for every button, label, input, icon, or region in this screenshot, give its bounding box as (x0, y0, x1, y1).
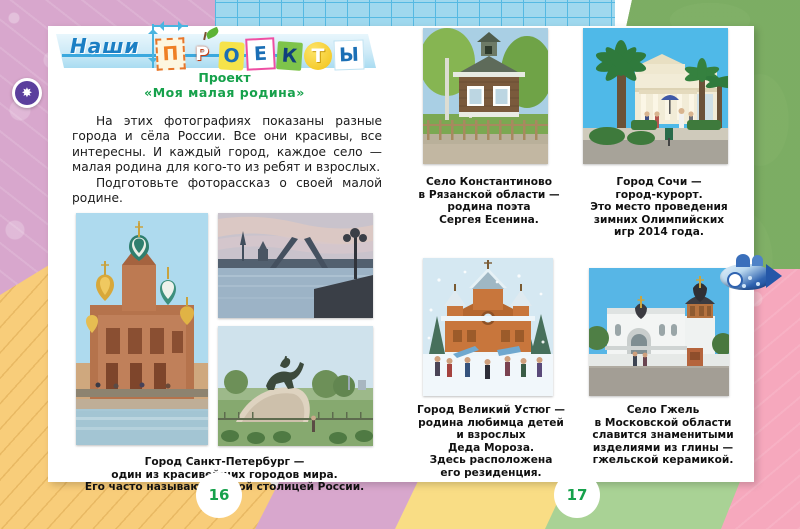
intro-paragraph-2: Подготовьте фоторассказ о своей малой ро… (72, 176, 382, 207)
caption-line: в Московской области (577, 417, 749, 430)
star-flower-icon: ✸ (15, 81, 39, 105)
caption-line: Город Великий Устюг — (407, 404, 575, 417)
photo-veliky-ustyug-residence (423, 258, 553, 396)
caption-line: славится знаменитыми (577, 429, 749, 442)
caption-line: гжельской керамикой. (577, 454, 749, 467)
fish-eye-icon (727, 272, 743, 288)
caption-line: и взрослых (407, 429, 575, 442)
caption-line: Деда Мороза. (407, 442, 575, 455)
star-badge: ✸ (12, 78, 42, 108)
caption-sochi: Город Сочи — город-курорт. Это место про… (573, 176, 745, 239)
caption-veliky-ustyug: Город Великий Устюг — родина любимца дет… (407, 404, 575, 480)
fish-dot-icon (756, 282, 760, 286)
caption-line: Это место проведения (573, 201, 745, 214)
caption-line: зимних Олимпийских (573, 214, 745, 227)
caption-line: Сергея Есенина. (409, 214, 569, 227)
left-page: Проект «Моя малая родина» На этих фотогр… (48, 26, 401, 482)
caption-konstantinovo: Село Константиново в Рязанской области —… (409, 176, 569, 226)
caption-line: изделиями из глины — (577, 442, 749, 455)
caption-line: Город Сочи — (573, 176, 745, 189)
photo-bronze-horseman (218, 326, 373, 446)
caption-line: Здесь расположена (407, 454, 575, 467)
photo-sochi-resort (583, 28, 728, 164)
page-number-right: 17 (554, 472, 600, 518)
caption-line: родина любимца детей (407, 417, 575, 430)
project-name: «Моя малая родина» (48, 85, 401, 100)
caption-line: город-курорт. (573, 189, 745, 202)
photo-savior-on-blood-church (76, 213, 208, 445)
caption-line: Село Константиново (409, 176, 569, 189)
caption-line: игр 2014 года. (573, 226, 745, 239)
caption-gzhel: Село Гжель в Московской области славится… (577, 404, 749, 467)
textbook-spread: Наши П Р О Е К Т Ы ✸ Проект «Моя малая р… (0, 0, 800, 529)
project-label: Проект (48, 70, 401, 85)
fish-dot-icon (748, 276, 752, 280)
fish-dot-icon (742, 284, 746, 288)
intro-text: На этих фотографиях показаны разные горо… (72, 114, 382, 206)
photo-konstantinovo-house (423, 28, 548, 164)
right-page: Село Константиново в Рязанской области —… (401, 26, 754, 482)
gzhel-fish-ornament (714, 252, 784, 298)
fish-fin-secondary-icon (752, 255, 763, 266)
photo-gzhel-church (589, 268, 729, 396)
caption-line: в Рязанской области — (409, 189, 569, 202)
caption-line: Село Гжель (577, 404, 749, 417)
caption-line: Город Санкт-Петербург — (48, 456, 401, 469)
intro-paragraph-1: На этих фотографиях показаны разные горо… (72, 114, 382, 176)
page-number-left: 16 (196, 472, 242, 518)
caption-line: его резиденция. (407, 467, 575, 480)
project-title: Проект «Моя малая родина» (48, 70, 401, 100)
fish-fin-icon (736, 254, 750, 267)
photo-palace-bridge (218, 213, 373, 318)
caption-line: родина поэта (409, 201, 569, 214)
fish-tail-icon (766, 264, 782, 288)
